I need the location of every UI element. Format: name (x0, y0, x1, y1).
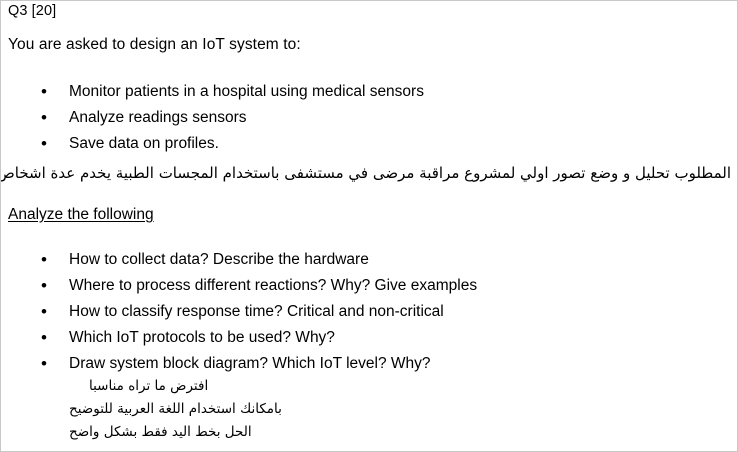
list-item-label: Monitor patients in a hospital using med… (69, 79, 424, 105)
list-item-label: Where to process different reactions? Wh… (69, 273, 477, 299)
bullet-icon: • (41, 79, 51, 105)
analyze-section-heading: Analyze the following (8, 207, 154, 223)
bullet-icon: • (41, 273, 51, 299)
bullet-icon: • (41, 351, 51, 377)
intro-paragraph: You are asked to design an IoT system to… (8, 37, 301, 53)
bullet-icon: • (41, 247, 51, 273)
list-item-label: Draw system block diagram? Which IoT lev… (69, 351, 431, 377)
bullet-icon: • (41, 299, 51, 325)
list-item-label: How to classify response time? Critical … (69, 299, 444, 325)
list-item-label: Which IoT protocols to be used? Why? (69, 325, 335, 351)
arabic-note-language: بامكانك استخدام اللغة العربية للتوضيح (69, 398, 282, 420)
bullet-icon: • (41, 325, 51, 351)
bullet-icon: • (41, 105, 51, 131)
arabic-brief-line: المطلوب تحليل و وضع تصور اولي لمشروع مرا… (0, 162, 731, 184)
list-item-label: Save data on profiles. (69, 131, 219, 157)
list-item-label: Analyze readings sensors (69, 105, 247, 131)
document-page: Q3 [20] You are asked to design an IoT s… (0, 0, 738, 452)
bullet-icon: • (41, 131, 51, 157)
arabic-note-handwriting: الحل بخط اليد فقط بشكل واضح (69, 421, 252, 443)
arabic-note-assume: افترض ما تراه مناسبا (89, 375, 208, 397)
list-item-label: How to collect data? Describe the hardwa… (69, 247, 369, 273)
question-number-heading: Q3 [20] (8, 4, 56, 19)
